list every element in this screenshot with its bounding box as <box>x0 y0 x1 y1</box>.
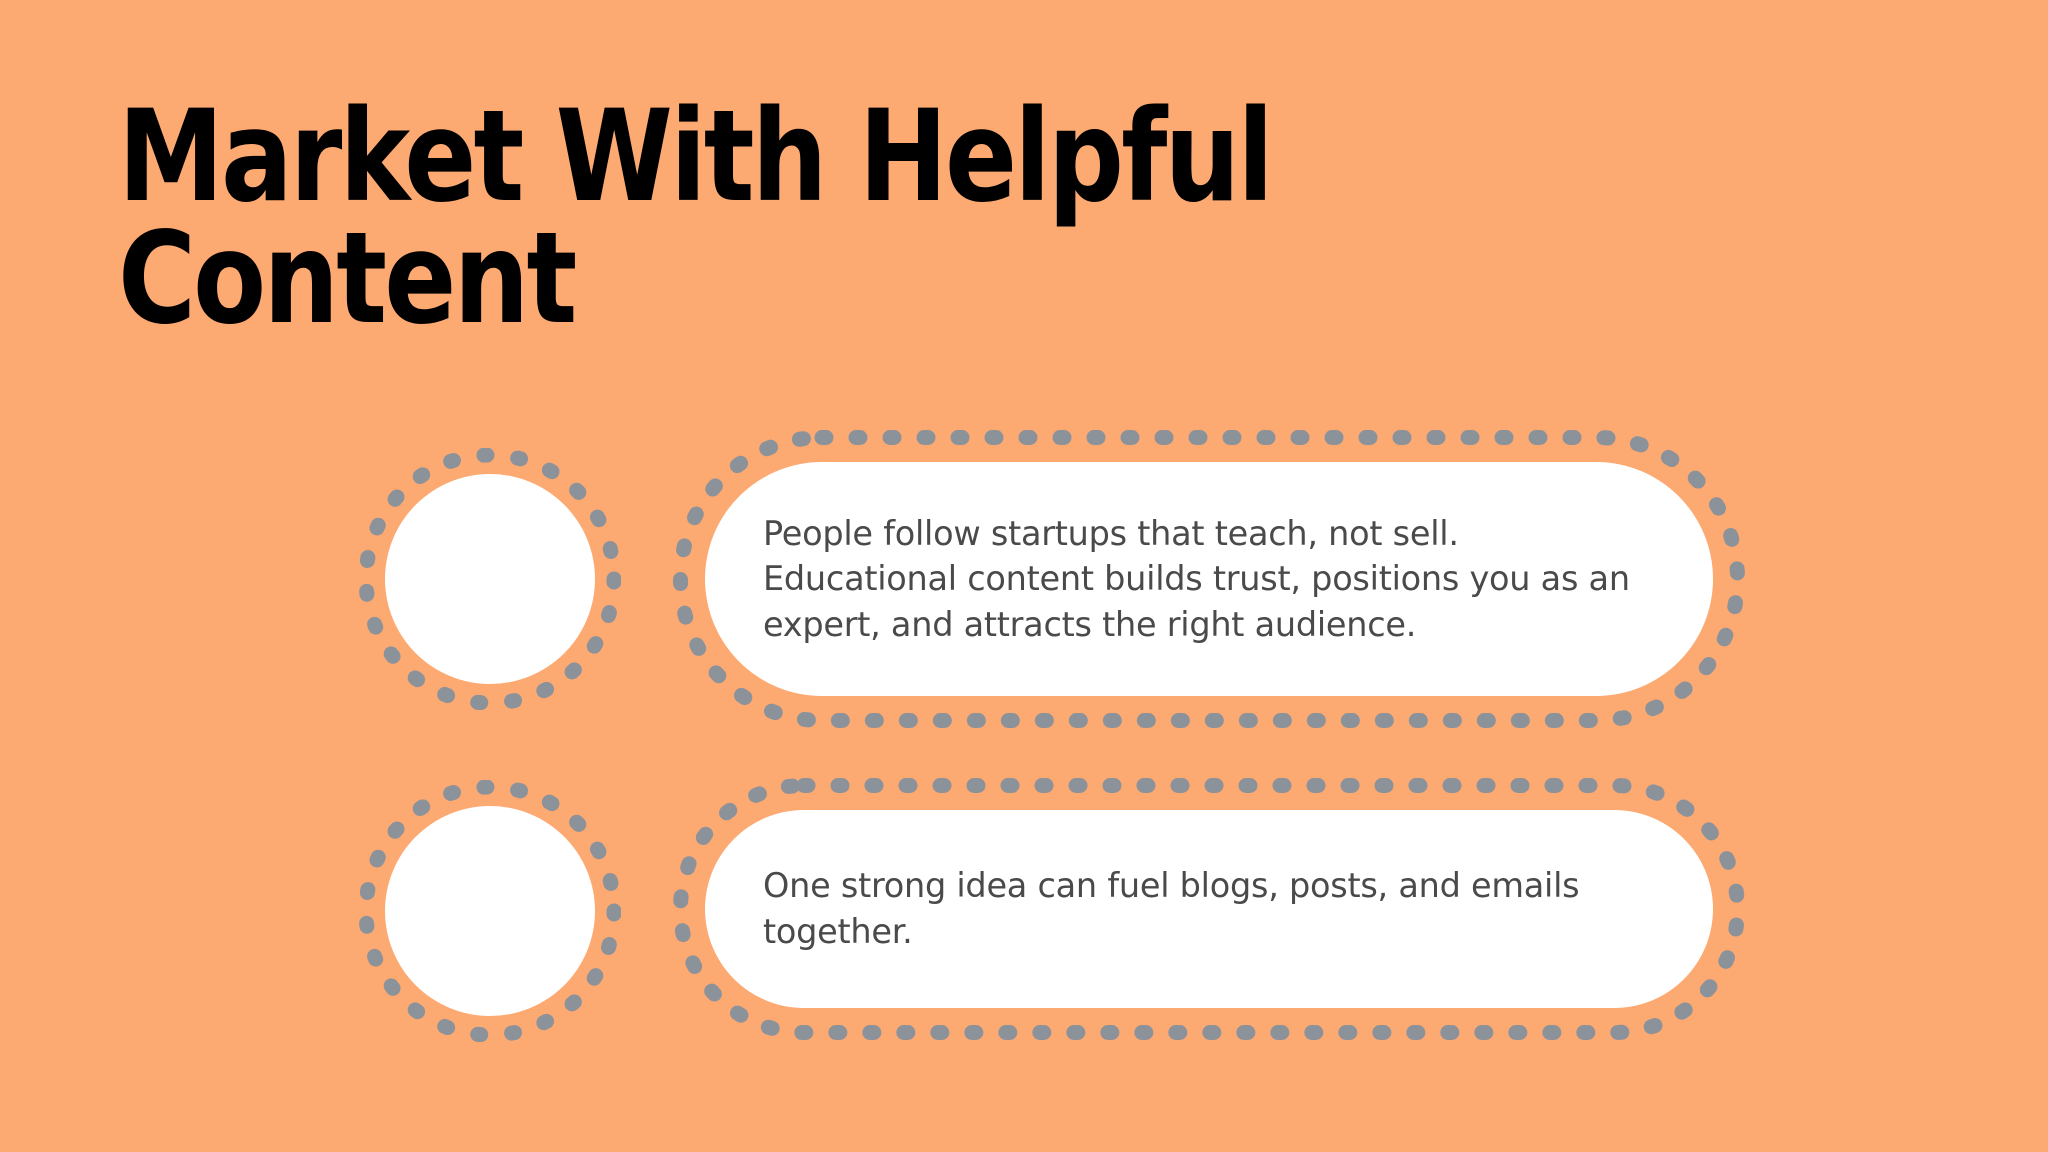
list-item: One strong idea can fuel blogs, posts, a… <box>0 780 2048 1042</box>
content-card: One strong idea can fuel blogs, posts, a… <box>673 778 1745 1040</box>
content-card-text: People follow startups that teach, not s… <box>705 511 1713 648</box>
bullet-circle-fill <box>385 806 595 1016</box>
list-item: People follow startups that teach, not s… <box>0 448 2048 710</box>
content-card-text: One strong idea can fuel blogs, posts, a… <box>705 863 1713 954</box>
content-card-body: One strong idea can fuel blogs, posts, a… <box>705 810 1713 1008</box>
page-title: Market With Helpful Content <box>118 96 1476 340</box>
content-card: People follow startups that teach, not s… <box>673 430 1745 728</box>
bullet-circle-marker <box>359 780 621 1042</box>
bullet-circle-marker <box>359 448 621 710</box>
content-card-body: People follow startups that teach, not s… <box>705 462 1713 696</box>
slide-canvas: Market With Helpful Content People follo… <box>0 0 2048 1152</box>
bullet-circle-fill <box>385 474 595 684</box>
